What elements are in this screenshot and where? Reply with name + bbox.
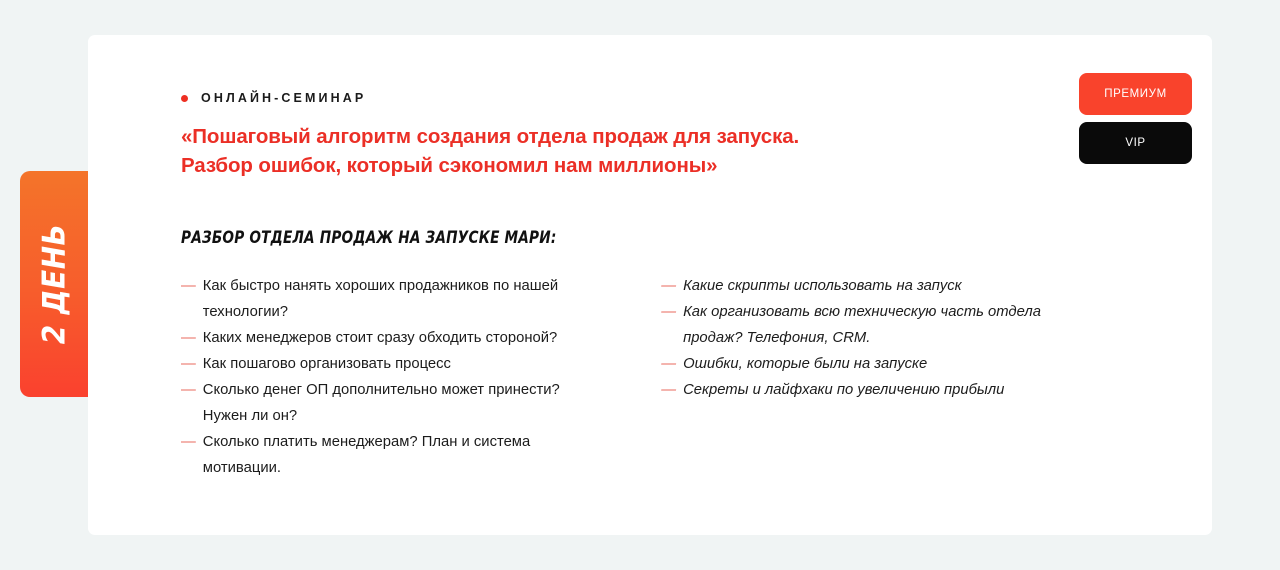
day-tab-label: 2 ДЕНЬ bbox=[36, 224, 72, 345]
list-item-text: Каких менеджеров стоит сразу обходить ст… bbox=[203, 325, 591, 351]
dash-icon: — bbox=[661, 273, 676, 299]
eyebrow-label: ОНЛАЙН-СЕМИНАР bbox=[201, 91, 366, 105]
dash-icon: — bbox=[661, 351, 676, 377]
list-item-text: Как пошагово организовать процесс bbox=[203, 351, 591, 377]
list-item: — Как организовать всю техническую часть… bbox=[661, 299, 1062, 351]
dash-icon: — bbox=[181, 351, 196, 377]
page-title-line-2: Разбор ошибок, который сэкономил нам мил… bbox=[181, 154, 717, 177]
dash-icon: — bbox=[181, 377, 196, 403]
list-item-text: Сколько платить менеджерам? План и систе… bbox=[203, 429, 591, 481]
topic-column-right: — Какие скрипты использовать на запуск —… bbox=[661, 273, 1062, 481]
list-item: — Сколько платить менеджерам? План и сис… bbox=[181, 429, 591, 481]
dash-icon: — bbox=[181, 273, 196, 299]
day-tab[interactable]: 2 ДЕНЬ bbox=[20, 171, 88, 397]
premium-button[interactable]: ПРЕМИУМ bbox=[1079, 73, 1192, 115]
page-title-line-1: «Пошаговый алгоритм создания отдела прод… bbox=[181, 125, 799, 148]
section-subtitle: Разбор отдела продаж на запуске Мари: bbox=[181, 228, 992, 247]
list-item-text: Как быстро нанять хороших продажников по… bbox=[203, 273, 591, 325]
list-item: — Как пошагово организовать процесс bbox=[181, 351, 591, 377]
list-item: — Каких менеджеров стоит сразу обходить … bbox=[181, 325, 591, 351]
page-title: «Пошаговый алгоритм создания отдела прод… bbox=[181, 122, 881, 180]
dash-icon: — bbox=[181, 325, 196, 351]
card-content: ОНЛАЙН-СЕМИНАР «Пошаговый алгоритм созда… bbox=[181, 90, 1062, 481]
list-item-text: Какие скрипты использовать на запуск bbox=[683, 273, 1062, 299]
dash-icon: — bbox=[661, 299, 676, 325]
list-item-text: Сколько денег ОП дополнительно может при… bbox=[203, 377, 591, 429]
topic-columns: — Как быстро нанять хороших продажников … bbox=[181, 273, 1062, 481]
dash-icon: — bbox=[181, 429, 196, 455]
list-item: — Сколько денег ОП дополнительно может п… bbox=[181, 377, 591, 429]
list-item-text: Секреты и лайфхаки по увеличению прибыли bbox=[683, 377, 1062, 403]
bullet-dot-icon bbox=[181, 95, 188, 102]
list-item: — Как быстро нанять хороших продажников … bbox=[181, 273, 591, 325]
topic-column-left: — Как быстро нанять хороших продажников … bbox=[181, 273, 591, 481]
list-item: — Ошибки, которые были на запуске bbox=[661, 351, 1062, 377]
vip-button[interactable]: VIP bbox=[1079, 122, 1192, 164]
list-item: — Какие скрипты использовать на запуск bbox=[661, 273, 1062, 299]
list-item-text: Ошибки, которые были на запуске bbox=[683, 351, 1062, 377]
eyebrow: ОНЛАЙН-СЕМИНАР bbox=[181, 90, 1062, 106]
dash-icon: — bbox=[661, 377, 676, 403]
list-item-text: Как организовать всю техническую часть о… bbox=[683, 299, 1062, 351]
program-card: ПРЕМИУМ VIP ОНЛАЙН-СЕМИНАР «Пошаговый ал… bbox=[88, 35, 1212, 535]
list-item: — Секреты и лайфхаки по увеличению прибы… bbox=[661, 377, 1062, 403]
ticket-button-group: ПРЕМИУМ VIP bbox=[1079, 73, 1192, 164]
